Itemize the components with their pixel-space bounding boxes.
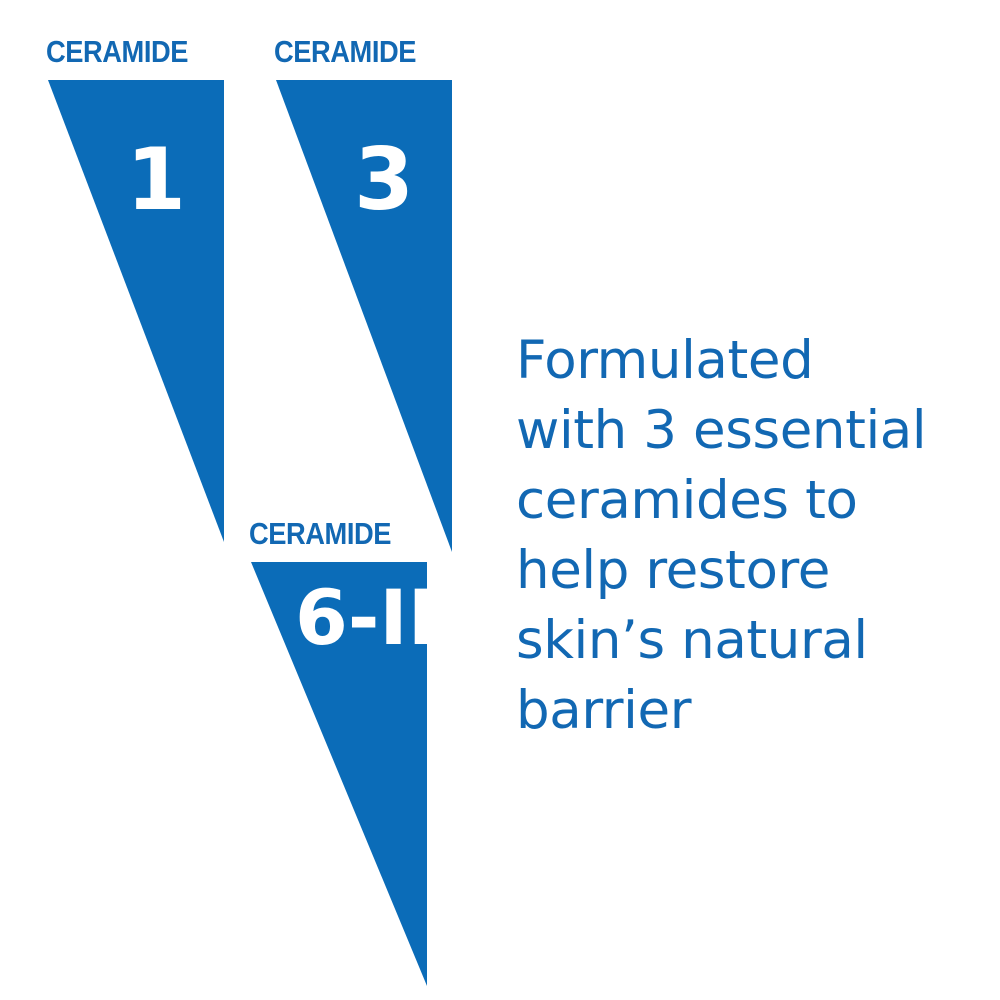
ceramide-3-number: 3 — [354, 137, 414, 223]
ceramide-1-number: 1 — [126, 137, 186, 223]
infographic-canvas: CERAMIDE 1 CERAMIDE 3 CERAMIDE 6-II Form… — [0, 0, 1000, 1000]
ceramide-6ii-number: 6-II — [295, 580, 435, 656]
copy-line-6: barrier — [516, 676, 966, 746]
copy-line-1: Formulated — [516, 326, 966, 396]
ceramide-3-label: CERAMIDE — [274, 36, 416, 67]
copy-line-5: skin’s natural — [516, 606, 966, 676]
marketing-copy-block: Formulated with 3 essential ceramides to… — [516, 326, 966, 746]
ceramide-1-group: CERAMIDE 1 — [44, 36, 244, 506]
ceramide-6ii-label: CERAMIDE — [249, 518, 391, 549]
copy-line-3: ceramides to — [516, 466, 966, 536]
ceramide-6ii-group: CERAMIDE 6-II — [247, 518, 447, 988]
copy-line-2: with 3 essential — [516, 396, 966, 466]
ceramide-3-group: CERAMIDE 3 — [272, 36, 472, 516]
copy-line-4: help restore — [516, 536, 966, 606]
ceramide-1-label: CERAMIDE — [46, 36, 188, 67]
